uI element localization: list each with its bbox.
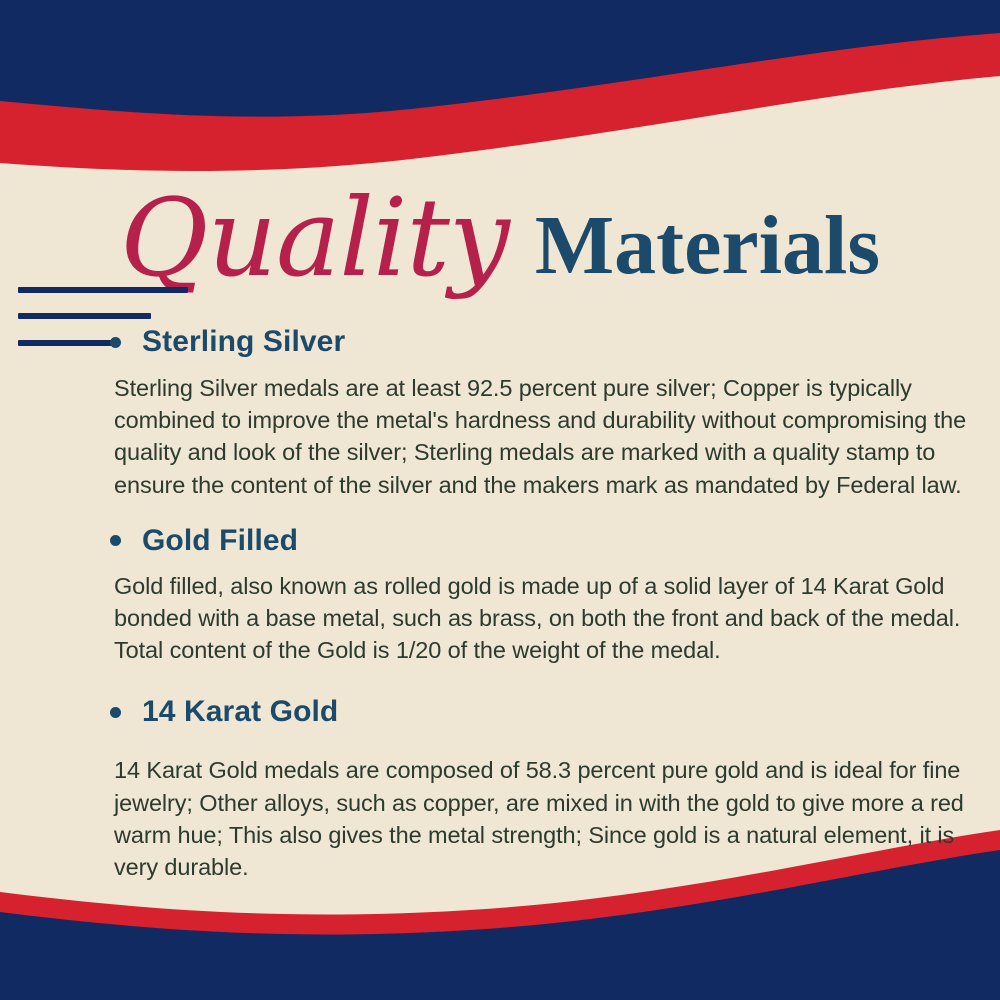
- section-heading-label: 14 Karat Gold: [142, 694, 338, 730]
- section-heading-gold-filled: Gold Filled: [100, 523, 980, 559]
- decorative-rule-2: [18, 313, 151, 319]
- section-14-karat-gold: 14 Karat Gold 14 Karat Gold medals are c…: [100, 694, 980, 883]
- top-wave-svg: [0, 0, 1000, 200]
- top-wave-decoration: [0, 0, 1000, 200]
- poster-canvas: Quality Materials Sterling Silver Sterli…: [0, 0, 1000, 1000]
- title-word-materials: Materials: [535, 204, 880, 288]
- content-list: Sterling Silver Sterling Silver medals a…: [100, 324, 980, 887]
- page-title: Quality Materials: [0, 183, 1000, 303]
- title-word-quality: Quality: [120, 185, 509, 293]
- section-gold-filled: Gold Filled Gold filled, also known as r…: [100, 523, 980, 667]
- section-heading-14-karat-gold: 14 Karat Gold: [100, 694, 980, 730]
- section-heading-sterling-silver: Sterling Silver: [100, 324, 980, 360]
- section-sterling-silver: Sterling Silver Sterling Silver medals a…: [100, 324, 980, 501]
- section-body-gold-filled: Gold filled, also known as rolled gold i…: [100, 570, 972, 667]
- section-heading-label: Sterling Silver: [142, 324, 345, 360]
- section-heading-label: Gold Filled: [142, 523, 298, 559]
- bullet-dot-icon: [110, 337, 121, 348]
- section-body-14-karat-gold: 14 Karat Gold medals are composed of 58.…: [100, 754, 972, 883]
- bullet-dot-icon: [110, 535, 121, 546]
- decorative-rule-1: [18, 287, 188, 293]
- top-wave-red-band: [0, 0, 1000, 171]
- bullet-dot-icon: [110, 707, 121, 718]
- top-wave-navy-band: [0, 0, 1000, 117]
- section-body-sterling-silver: Sterling Silver medals are at least 92.5…: [100, 372, 972, 501]
